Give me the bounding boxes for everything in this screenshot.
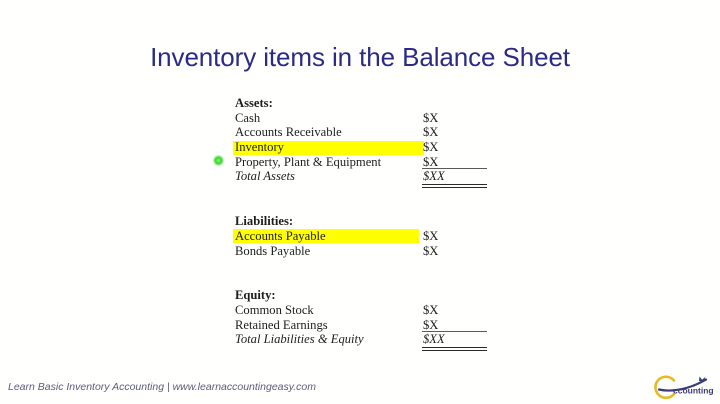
table-row-total-assets: Total Assets $XX	[235, 169, 535, 184]
row-amount-property-plant-equipment: $X	[423, 155, 438, 170]
section-heading-equity: Equity:	[235, 288, 535, 303]
table-row: Cash $X	[235, 111, 535, 126]
row-label-common-stock: Common Stock	[235, 303, 314, 318]
row-label-accounts-receivable: Accounts Receivable	[235, 125, 342, 140]
table-row-inventory-highlighted: Inventory $X	[235, 140, 535, 155]
logo-wordmark: ccounting	[673, 386, 714, 396]
section-spacer	[235, 258, 535, 273]
table-row: Property, Plant & Equipment $X	[235, 155, 535, 170]
table-row: Bonds Payable $X	[235, 244, 535, 259]
row-amount-accounts-receivable: $X	[423, 125, 438, 140]
row-label-property-plant-equipment: Property, Plant & Equipment	[235, 155, 381, 170]
row-amount-retained-earnings: $X	[423, 318, 438, 333]
rule-below-total-liabilities-equity-2	[422, 350, 487, 351]
row-amount-cash: $X	[423, 111, 438, 126]
row-amount-total-assets: $XX	[423, 169, 445, 184]
row-label-total-assets: Total Assets	[235, 169, 295, 184]
brand-logo: ccounting	[652, 371, 718, 401]
rule-above-total-assets	[422, 168, 487, 169]
table-row: Retained Earnings $X	[235, 318, 535, 333]
table-row-total-liabilities-equity: Total Liabilities & Equity $XX	[235, 332, 535, 347]
page-title: Inventory items in the Balance Sheet	[0, 42, 720, 73]
table-row: Accounts Receivable $X	[235, 125, 535, 140]
row-label-cash: Cash	[235, 111, 260, 126]
slide-canvas: Inventory items in the Balance Sheet Ass…	[0, 0, 720, 404]
section-spacer	[235, 273, 535, 288]
rule-above-total-liabilities-equity	[422, 331, 487, 332]
row-label-accounts-payable: Accounts Payable	[235, 229, 326, 244]
row-label-bonds-payable: Bonds Payable	[235, 244, 310, 259]
section-spacer	[235, 184, 535, 199]
section-heading-assets: Assets:	[235, 96, 535, 111]
section-heading-liabilities: Liabilities:	[235, 214, 535, 229]
rule-below-total-assets-1	[422, 184, 487, 185]
row-amount-common-stock: $X	[423, 303, 438, 318]
rule-below-total-liabilities-equity-1	[422, 347, 487, 348]
table-row-accounts-payable-highlighted: Accounts Payable $X	[235, 229, 535, 244]
section-heading-label: Equity:	[235, 288, 276, 303]
row-label-total-liabilities-equity: Total Liabilities & Equity	[235, 332, 364, 347]
logo-arc-icon	[655, 377, 674, 398]
laser-pointer-dot	[213, 155, 224, 166]
rule-below-total-assets-2	[422, 187, 487, 188]
row-amount-inventory: $X	[423, 140, 438, 155]
section-heading-label: Liabilities:	[235, 214, 293, 229]
row-amount-bonds-payable: $X	[423, 244, 438, 259]
table-row: Common Stock $X	[235, 303, 535, 318]
section-heading-label: Assets:	[235, 96, 273, 111]
row-amount-accounts-payable: $X	[423, 229, 438, 244]
row-label-inventory: Inventory	[235, 140, 284, 155]
row-label-retained-earnings: Retained Earnings	[235, 318, 328, 333]
footer-attribution: Learn Basic Inventory Accounting | www.l…	[8, 381, 316, 393]
section-spacer	[235, 199, 535, 214]
balance-sheet-table: Assets: Cash $X Accounts Receivable $X I…	[235, 96, 535, 347]
row-amount-total-liabilities-equity: $XX	[423, 332, 445, 347]
